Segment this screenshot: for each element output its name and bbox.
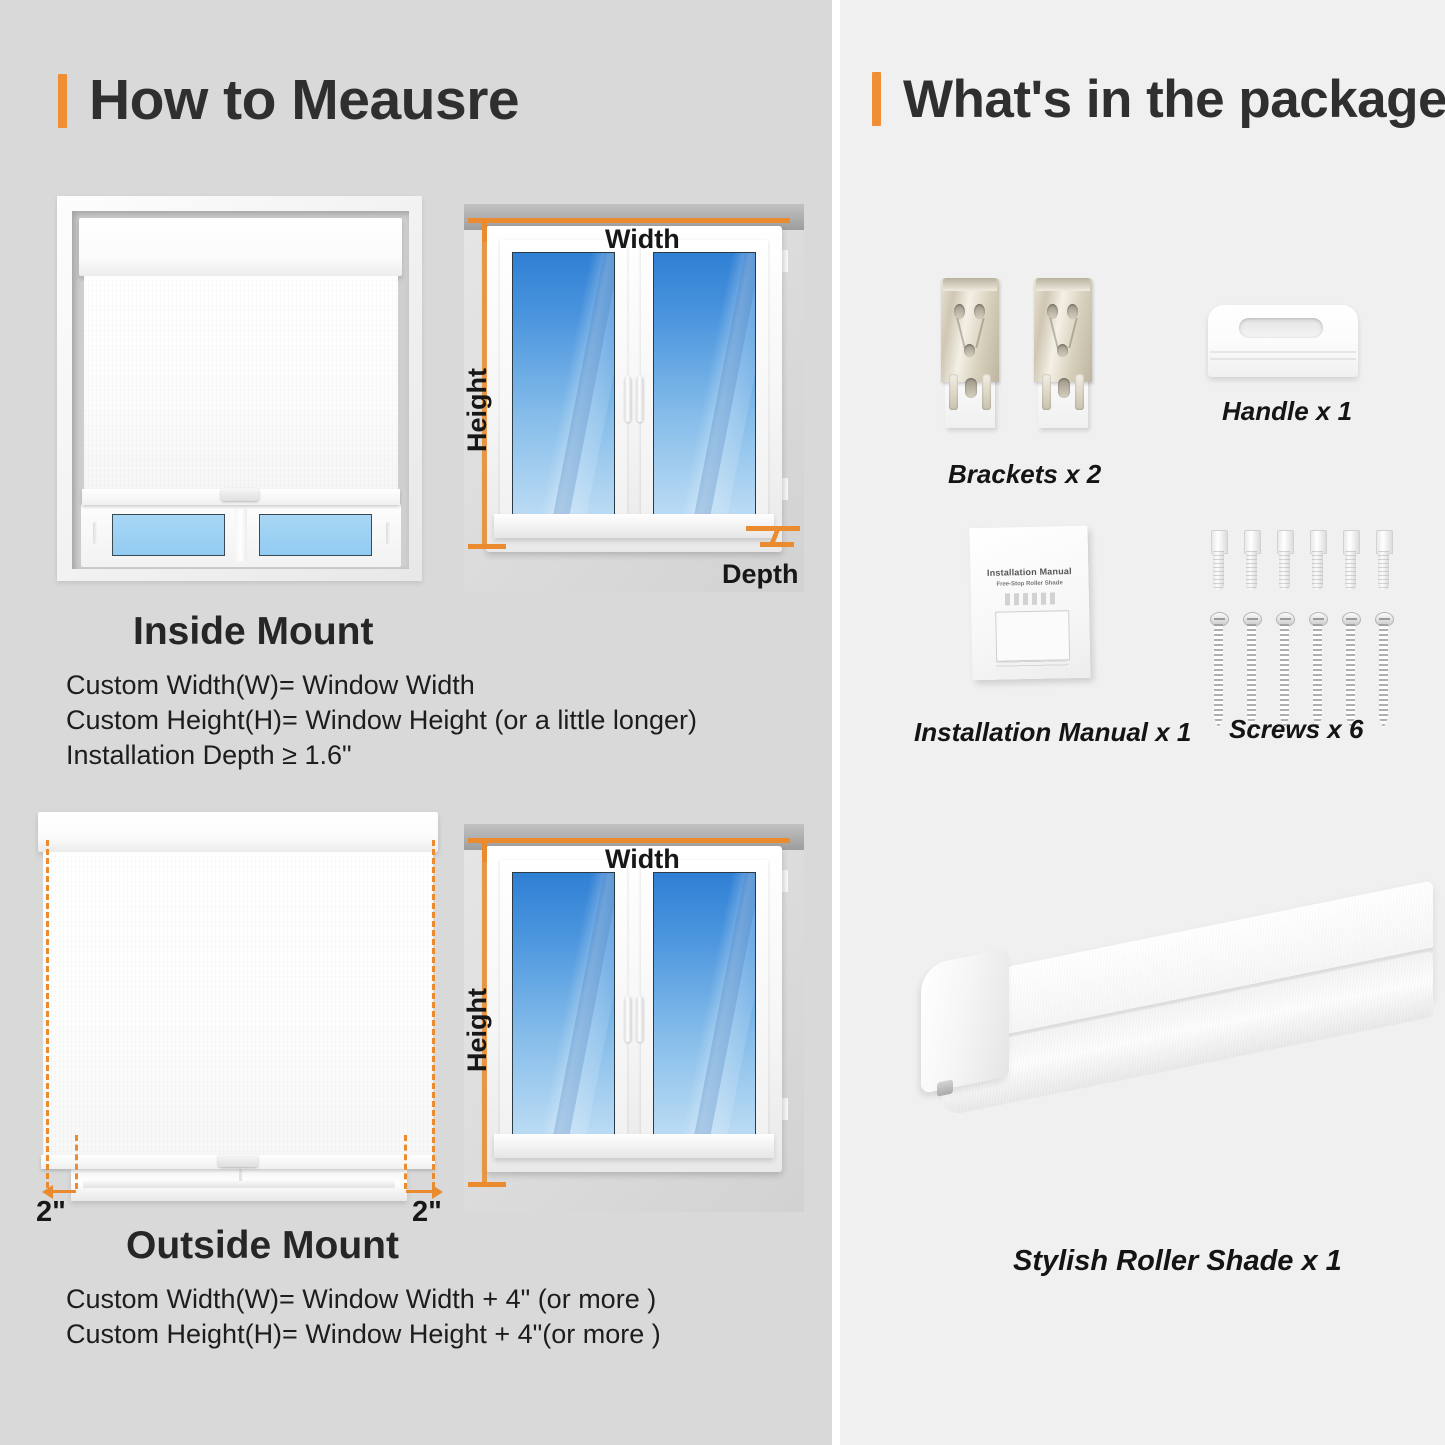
bracket-rib-right bbox=[1068, 318, 1077, 348]
shade-fabric bbox=[84, 276, 398, 491]
outside-height-label: Height bbox=[462, 988, 493, 1072]
accent-bar-icon bbox=[58, 74, 67, 128]
overhang-label-left: 2" bbox=[36, 1196, 66, 1229]
overhang-edge-right bbox=[404, 1135, 407, 1189]
height-mark-bottom-tick bbox=[468, 1182, 506, 1187]
screw-shaft bbox=[1247, 624, 1256, 728]
window-sash-group bbox=[500, 240, 768, 530]
outside-note-1: Custom Width(W)= Window Width + 4" (or m… bbox=[66, 1282, 661, 1317]
window-hinge-top-icon bbox=[782, 870, 788, 892]
anchor-shaft bbox=[1345, 551, 1356, 590]
manual-cover-title: Installation Manual bbox=[970, 566, 1088, 578]
bracket-hole-a bbox=[1047, 304, 1058, 319]
handle-ridge-2 bbox=[1210, 358, 1356, 360]
anchor-shaft bbox=[1213, 551, 1224, 590]
window-pane-left bbox=[112, 514, 225, 556]
window-mullion bbox=[235, 509, 247, 561]
window-hinge-right-icon bbox=[386, 522, 390, 544]
bracket-center-hole bbox=[1058, 378, 1070, 398]
bracket-top-flange bbox=[943, 278, 997, 291]
window-glass-left bbox=[512, 252, 615, 518]
handle-item bbox=[1208, 305, 1358, 377]
width-mark-bar bbox=[480, 218, 776, 223]
bracket-item-2 bbox=[1034, 278, 1092, 428]
outside-mount-notes: Custom Width(W)= Window Width + 4" (or m… bbox=[66, 1282, 661, 1352]
window-frame bbox=[486, 226, 782, 552]
window-sash-left bbox=[500, 240, 627, 530]
handle-label: Handle x 1 bbox=[1222, 396, 1352, 427]
wall-anchor-1 bbox=[1210, 530, 1227, 590]
package-title: What's in the package bbox=[903, 73, 1445, 126]
roller-shade-end-cap bbox=[921, 948, 1009, 1094]
inside-mount-notes: Custom Width(W)= Window Width Custom Hei… bbox=[66, 668, 697, 773]
screw-shaft bbox=[1346, 624, 1355, 728]
bracket-metal-body bbox=[941, 278, 999, 382]
height-mark-bottom-tick bbox=[468, 544, 506, 549]
inside-note-3: Installation Depth ≥ 1.6" bbox=[66, 738, 697, 773]
depth-mark-bar bbox=[746, 526, 800, 531]
screw-5 bbox=[1342, 612, 1359, 728]
installation-manual-label: Installation Manual x 1 bbox=[914, 717, 1191, 748]
panel-divider bbox=[832, 0, 840, 1445]
window-sill-divider bbox=[239, 1169, 242, 1181]
width-mark-bar bbox=[480, 838, 776, 843]
outside-mount-title: Outside Mount bbox=[126, 1224, 399, 1268]
screw-shaft bbox=[1313, 624, 1322, 728]
inside-height-label: Height bbox=[462, 368, 493, 452]
window-sash-left bbox=[500, 860, 627, 1150]
window-glass-left bbox=[512, 872, 615, 1138]
overhang-label-right: 2" bbox=[412, 1196, 442, 1229]
window-glass-right bbox=[653, 872, 756, 1138]
wall-anchor-4 bbox=[1309, 530, 1326, 590]
screw-shaft bbox=[1280, 624, 1289, 728]
window-frame bbox=[486, 846, 782, 1172]
bracket-hole-b bbox=[974, 304, 985, 319]
screw-3 bbox=[1276, 612, 1293, 728]
anchor-shaft bbox=[1279, 551, 1290, 590]
window-hinge-top-icon bbox=[782, 250, 788, 272]
shade-valance bbox=[79, 218, 402, 276]
window-pane-right bbox=[259, 514, 372, 556]
shade-pull-grip bbox=[221, 488, 259, 501]
bracket-hole-c bbox=[1057, 344, 1068, 357]
inside-mount-shade-illustration bbox=[57, 196, 422, 581]
inside-mount-title: Inside Mount bbox=[133, 610, 373, 654]
width-mark-right-tick bbox=[752, 218, 790, 223]
window-glass-right bbox=[653, 252, 756, 518]
manual-cover-illustration bbox=[995, 610, 1070, 662]
bracket-hole-c bbox=[964, 344, 975, 357]
bracket-rib-right bbox=[975, 318, 984, 348]
screw-4 bbox=[1309, 612, 1326, 728]
shade-valance-outside bbox=[38, 812, 438, 852]
window-sash-right bbox=[641, 240, 768, 530]
overhang-arrow-left-line bbox=[50, 1190, 76, 1193]
manual-cover-footer bbox=[996, 660, 1068, 670]
anchor-shaft bbox=[1378, 551, 1389, 590]
package-heading: What's in the package bbox=[872, 72, 1445, 126]
bracket-item-1 bbox=[941, 278, 999, 428]
screw-1 bbox=[1210, 612, 1227, 728]
window-sash-right bbox=[641, 860, 768, 1150]
how-to-measure-heading: How to Meausre bbox=[58, 72, 519, 129]
window-sash-group bbox=[500, 860, 768, 1150]
screws-label: Screws x 6 bbox=[1229, 714, 1363, 745]
inside-width-label: Width bbox=[605, 224, 680, 255]
manual-cover-scribble bbox=[1005, 592, 1057, 605]
inside-depth-label: Depth bbox=[722, 559, 799, 590]
depth-mark-foot bbox=[760, 542, 794, 547]
window-sill bbox=[494, 1134, 774, 1158]
accent-bar-icon bbox=[872, 72, 881, 126]
shade-fabric-outside bbox=[43, 852, 433, 1157]
window-sill-outside bbox=[71, 1169, 407, 1201]
inside-mount-window-diagram: Width Height Depth bbox=[464, 204, 804, 592]
bracket-slot-right bbox=[1075, 374, 1084, 410]
bracket-rib-left bbox=[1049, 318, 1058, 348]
bracket-top-flange bbox=[1036, 278, 1090, 291]
window-handle-pair-icon bbox=[625, 376, 644, 422]
wall-anchor-2 bbox=[1243, 530, 1260, 590]
overhang-edge-left bbox=[75, 1135, 78, 1189]
installation-manual-item: Installation Manual Free-Stop Roller Sha… bbox=[969, 526, 1090, 680]
bracket-slot-left bbox=[1042, 374, 1051, 410]
handle-ridge-1 bbox=[1210, 351, 1356, 353]
handle-grip-slot bbox=[1239, 318, 1323, 338]
roller-shade-item bbox=[915, 905, 1430, 1205]
overhang-guide-right bbox=[432, 840, 435, 1188]
roller-shade-label: Stylish Roller Shade x 1 bbox=[1013, 1245, 1342, 1278]
window-sill bbox=[494, 514, 774, 538]
overhang-guide-left bbox=[46, 840, 49, 1188]
manual-cover-subtitle: Free-Stop Roller Shade bbox=[971, 580, 1089, 588]
inside-note-1: Custom Width(W)= Window Width bbox=[66, 668, 697, 703]
outside-note-2: Custom Height(H)= Window Height + 4"(or … bbox=[66, 1317, 661, 1352]
window-hinge-left-icon bbox=[93, 522, 97, 544]
bracket-slot-right bbox=[982, 374, 991, 410]
bracket-center-hole bbox=[965, 378, 977, 398]
anchor-shaft bbox=[1312, 551, 1323, 590]
screw-2 bbox=[1243, 612, 1260, 728]
overhang-arrow-right-line bbox=[406, 1190, 432, 1193]
bracket-hole-a bbox=[954, 304, 965, 319]
wall-anchor-3 bbox=[1276, 530, 1293, 590]
anchor-shaft bbox=[1246, 551, 1257, 590]
screw-shaft bbox=[1214, 624, 1223, 728]
window-sash bbox=[81, 504, 401, 567]
infographic-page: How to Meausre bbox=[0, 0, 1445, 1445]
shade-pull-grip-outside bbox=[218, 1154, 258, 1167]
screw-shaft bbox=[1379, 624, 1388, 728]
bracket-hole-b bbox=[1067, 304, 1078, 319]
inside-note-2: Custom Height(H)= Window Height (or a li… bbox=[66, 703, 697, 738]
bracket-rib-left bbox=[956, 318, 965, 348]
wall-anchor-5 bbox=[1342, 530, 1359, 590]
window-hinge-bottom-icon bbox=[782, 478, 788, 500]
window-hinge-bottom-icon bbox=[782, 1098, 788, 1120]
outside-mount-shade-illustration bbox=[38, 812, 438, 1202]
how-to-measure-title: How to Meausre bbox=[89, 72, 519, 129]
screw-6 bbox=[1375, 612, 1392, 728]
bracket-slot-left bbox=[949, 374, 958, 410]
wall-anchor-6 bbox=[1375, 530, 1392, 590]
brackets-label: Brackets x 2 bbox=[948, 459, 1101, 490]
window-handle-pair-icon bbox=[625, 996, 644, 1042]
outside-width-label: Width bbox=[605, 844, 680, 875]
bracket-metal-body bbox=[1034, 278, 1092, 382]
outside-mount-window-diagram: Width Height bbox=[464, 824, 804, 1212]
width-mark-right-tick bbox=[752, 838, 790, 843]
